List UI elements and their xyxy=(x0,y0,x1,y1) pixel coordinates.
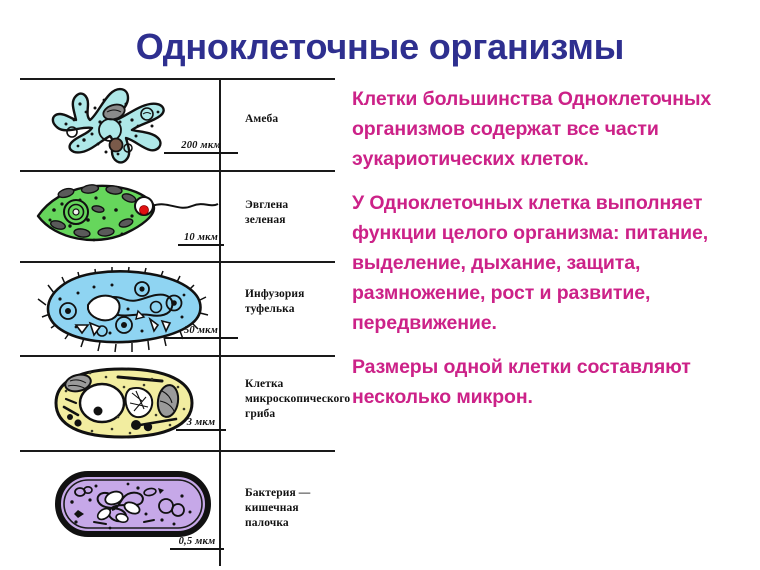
scale-rule xyxy=(170,548,224,550)
row-label-paramecium: Инфузория туфелька xyxy=(245,287,304,317)
row-label-euglena: Эвглена зеленая xyxy=(245,198,288,228)
scale-bar-50: 50 мкм xyxy=(164,325,238,339)
table-row: 50 мкм Инфузория туфелька xyxy=(0,261,345,355)
paramecium-illustration xyxy=(32,265,222,358)
table-row: 10 мкм Эвглена зеленая xyxy=(0,170,345,261)
row-label-bacterium: Бактерия — кишечная палочка xyxy=(245,486,310,531)
row-label-amoeba: Амеба xyxy=(245,112,278,127)
scale-bar-200: 200 мкм xyxy=(164,140,238,154)
fungal-cell-illustration xyxy=(44,363,204,448)
organism-scale-table: 200 мкм Амеба xyxy=(0,78,345,570)
scale-bar-0-5: 0,5 мкм xyxy=(160,536,234,550)
amoeba-illustration xyxy=(40,82,190,169)
description-text-column: Клетки большинства Одноклеточных организ… xyxy=(352,84,756,412)
slide-root: Одноклеточные организмы xyxy=(0,0,760,570)
scale-rule xyxy=(164,337,238,339)
scale-rule xyxy=(178,244,224,246)
description-paragraph-2: У Одноклеточных клетка выполняет функции… xyxy=(352,188,756,338)
table-row: 0,5 мкм Бактерия — кишечная палочка xyxy=(0,450,345,566)
page-title: Одноклеточные организмы xyxy=(0,26,760,68)
row-label-fungal-cell: Клетка микроскопического гриба xyxy=(245,377,350,422)
table-row: 200 мкм Амеба xyxy=(0,78,345,170)
scale-rule xyxy=(176,429,226,431)
table-row: 3 мкм Клетка микроскопического гриба xyxy=(0,355,345,450)
scale-bar-3: 3 мкм xyxy=(164,417,238,431)
scale-rule xyxy=(164,152,238,154)
description-paragraph-3: Размеры одной клетки составляют нескольк… xyxy=(352,352,756,412)
scale-bar-10: 10 мкм xyxy=(164,232,238,246)
description-paragraph-1: Клетки большинства Одноклеточных организ… xyxy=(352,84,756,174)
